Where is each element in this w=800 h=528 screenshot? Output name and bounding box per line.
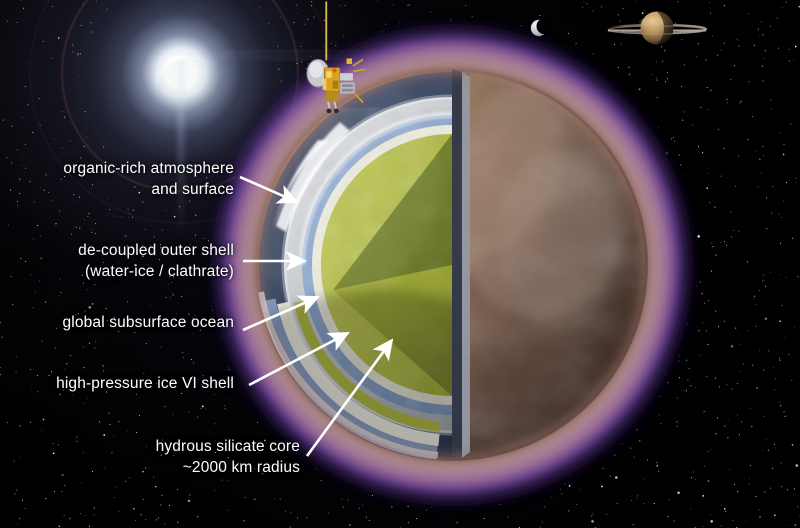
arrow-hydrous-core bbox=[307, 340, 392, 456]
label-atmosphere: organic-rich atmosphere and surface bbox=[18, 158, 234, 200]
arrow-ice-vi-shell bbox=[249, 333, 348, 385]
label-hydrous-core: hydrous silicate core ~2000 km radius bbox=[105, 436, 300, 478]
arrow-subsurface-ocean bbox=[243, 297, 318, 330]
label-subsurface-ocean: global subsurface ocean bbox=[12, 312, 234, 333]
label-ice-vi-shell: high-pressure ice VI shell bbox=[10, 373, 234, 394]
arrow-atmosphere bbox=[240, 177, 297, 202]
label-outer-shell: de-coupled outer shell (water-ice / clat… bbox=[18, 240, 234, 282]
illustration-canvas: organic-rich atmosphere and surfacede-co… bbox=[0, 0, 800, 528]
